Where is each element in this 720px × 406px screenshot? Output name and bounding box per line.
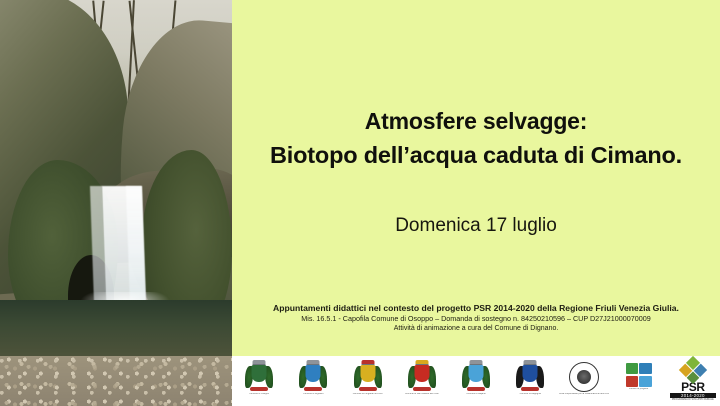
coat-of-arms-icon (515, 360, 545, 392)
poster-title: Atmosfere selvagge: Biotopo dell’acqua c… (232, 104, 720, 172)
funding-notice: Appuntamenti didattici nel contesto del … (232, 302, 720, 334)
psr-logo: PSR 2014-2020 PROGRAMMA DI SVILUPPO RURA… (670, 360, 716, 401)
coat-of-arms-icon (298, 360, 328, 392)
coat-of-arms-icon (407, 360, 437, 392)
event-date: Domenica 17 luglio (232, 215, 720, 237)
logo-psr: PSR 2014-2020 PROGRAMMA DI SVILUPPO RURA… (668, 360, 718, 401)
logo-caption: Partner di progetto (614, 388, 664, 391)
university-seal-icon (569, 362, 599, 392)
logo-caption: Comune di Dignano (288, 393, 338, 396)
coat-of-arms-icon (244, 360, 274, 392)
funding-line-2: Mis. 16.5.1 - Capofila Comune di Osoppo … (232, 314, 720, 324)
funding-line-3: Attività di animazione a cura del Comune… (232, 324, 720, 334)
water-pool (0, 300, 232, 362)
event-poster: Atmosfere selvagge: Biotopo dell’acqua c… (0, 0, 720, 406)
logo-comune-san-daniele: Comune di San Daniele del Friuli (397, 360, 447, 396)
title-line-1: Atmosfere selvagge: (365, 108, 587, 134)
logo-caption: Comune di San Daniele del Friuli (397, 393, 447, 396)
logo-caption: Ente responsabile per la collaborazione … (559, 393, 609, 396)
four-squares-icon (626, 363, 652, 387)
partner-logo-strip: Comune di Osoppo Comune di Dignano Comun… (232, 356, 720, 406)
logo-partner-squares: Partner di progetto (614, 360, 664, 391)
logo-comune-osoppo: Comune di Osoppo (234, 360, 284, 396)
logo-caption: Comune di Forgaria nel Friuli (343, 393, 393, 396)
logo-universita-udine: Ente responsabile per la collaborazione … (559, 360, 609, 396)
coat-of-arms-icon (461, 360, 491, 392)
logo-comune-dignano: Comune di Dignano (288, 360, 338, 396)
psr-subtitle: PROGRAMMA DI SVILUPPO RURALE (670, 398, 716, 401)
logo-comune-ragogna: Comune di Ragogna (505, 360, 555, 396)
text-panel: Atmosfere selvagge: Biotopo dell’acqua c… (232, 0, 720, 406)
logo-comune-forgaria: Comune di Forgaria nel Friuli (343, 360, 393, 396)
funding-line-1: Appuntamenti didattici nel contesto del … (232, 302, 720, 314)
logo-caption: Comune di Ragogna (505, 393, 555, 396)
gravel-shore (0, 356, 232, 406)
logo-comune-majano: Comune di Majano (451, 360, 501, 396)
logo-caption: Comune di Osoppo (234, 393, 284, 396)
title-line-2: Biotopo dell’acqua caduta di Cimano. (232, 138, 720, 172)
logo-caption: Comune di Majano (451, 393, 501, 396)
coat-of-arms-icon (353, 360, 383, 392)
waterfall-photo (0, 0, 232, 406)
